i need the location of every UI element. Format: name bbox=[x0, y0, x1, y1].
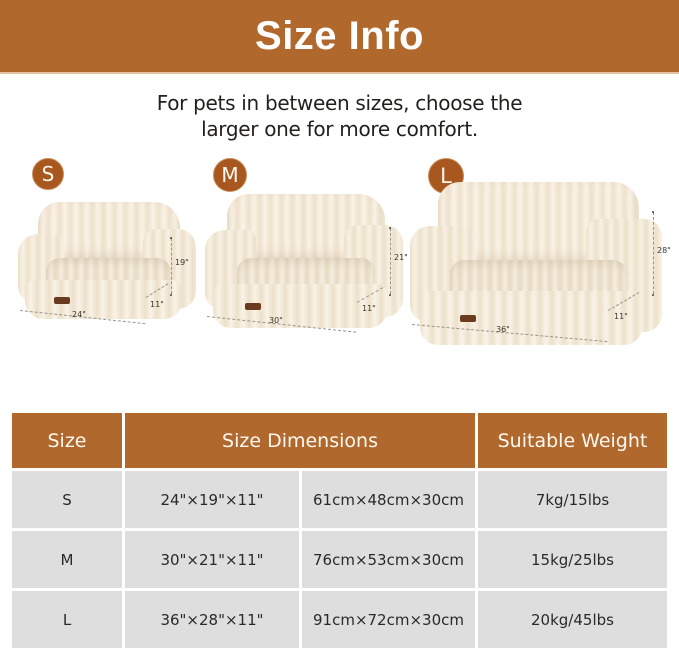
brand-tag bbox=[460, 315, 476, 322]
header-cell-size: Size bbox=[12, 413, 122, 468]
cell-weight: 7kg/15lbs bbox=[478, 471, 667, 528]
subtitle-line-1: For pets in between sizes, choose the bbox=[0, 90, 679, 116]
dim-label-height-m: 21" bbox=[394, 253, 408, 262]
product-illustrations: S 19" 24" 11" M 21" bbox=[0, 150, 679, 390]
brand-tag bbox=[245, 303, 261, 310]
cell-centimeters: 91cm×72cm×30cm bbox=[302, 591, 475, 648]
cell-weight: 15kg/25lbs bbox=[478, 531, 667, 588]
bed-base bbox=[213, 284, 387, 329]
dim-label-depth-s: 11" bbox=[150, 300, 164, 309]
header-banner: Size Info bbox=[0, 0, 679, 72]
dim-label-depth-m: 11" bbox=[362, 304, 376, 313]
pet-bed-illustration-s bbox=[18, 202, 196, 324]
subtitle-line-2: larger one for more comfort. bbox=[0, 116, 679, 142]
dim-label-depth-l: 11" bbox=[614, 312, 628, 321]
size-badge-m: M bbox=[213, 158, 247, 192]
size-badge-s: S bbox=[32, 158, 64, 190]
brand-tag bbox=[54, 297, 70, 304]
dim-label-width-m: 30" bbox=[269, 316, 283, 325]
cell-centimeters: 61cm×48cm×30cm bbox=[302, 471, 475, 528]
header-cell-dimensions: Size Dimensions bbox=[125, 413, 475, 468]
dim-dot bbox=[389, 294, 391, 296]
subtitle-block: For pets in between sizes, choose the la… bbox=[0, 74, 679, 142]
cell-inches: 36"×28"×11" bbox=[125, 591, 299, 648]
dim-label-height-s: 19" bbox=[175, 258, 189, 267]
table-row: M 30"×21"×11" 76cm×53cm×30cm 15kg/25lbs bbox=[12, 531, 667, 588]
header-cell-weight: Suitable Weight bbox=[478, 413, 667, 468]
pet-bed-illustration-m bbox=[205, 194, 403, 334]
dim-dot bbox=[652, 294, 654, 296]
cell-size: M bbox=[12, 531, 122, 588]
dim-label-width-l: 36" bbox=[496, 325, 510, 334]
bed-base bbox=[420, 291, 642, 345]
page-title: Size Info bbox=[255, 16, 424, 56]
dim-dot bbox=[652, 211, 654, 213]
dim-line-height-l bbox=[653, 212, 654, 294]
dim-dot bbox=[170, 294, 172, 296]
table-row: L 36"×28"×11" 91cm×72cm×30cm 20kg/45lbs bbox=[12, 591, 667, 648]
size-table: Size Size Dimensions Suitable Weight S 2… bbox=[12, 413, 667, 651]
dim-dot bbox=[389, 227, 391, 229]
cell-size: L bbox=[12, 591, 122, 648]
table-header-row: Size Size Dimensions Suitable Weight bbox=[12, 413, 667, 468]
table-row: S 24"×19"×11" 61cm×48cm×30cm 7kg/15lbs bbox=[12, 471, 667, 528]
dim-label-height-l: 28" bbox=[657, 246, 671, 255]
dim-line-height-m bbox=[390, 228, 391, 294]
cell-centimeters: 76cm×53cm×30cm bbox=[302, 531, 475, 588]
cell-inches: 30"×21"×11" bbox=[125, 531, 299, 588]
dim-line-height-s bbox=[171, 238, 172, 294]
dim-dot bbox=[170, 237, 172, 239]
cell-weight: 20kg/45lbs bbox=[478, 591, 667, 648]
dim-label-width-s: 24" bbox=[72, 310, 86, 319]
cell-inches: 24"×19"×11" bbox=[125, 471, 299, 528]
cell-size: S bbox=[12, 471, 122, 528]
